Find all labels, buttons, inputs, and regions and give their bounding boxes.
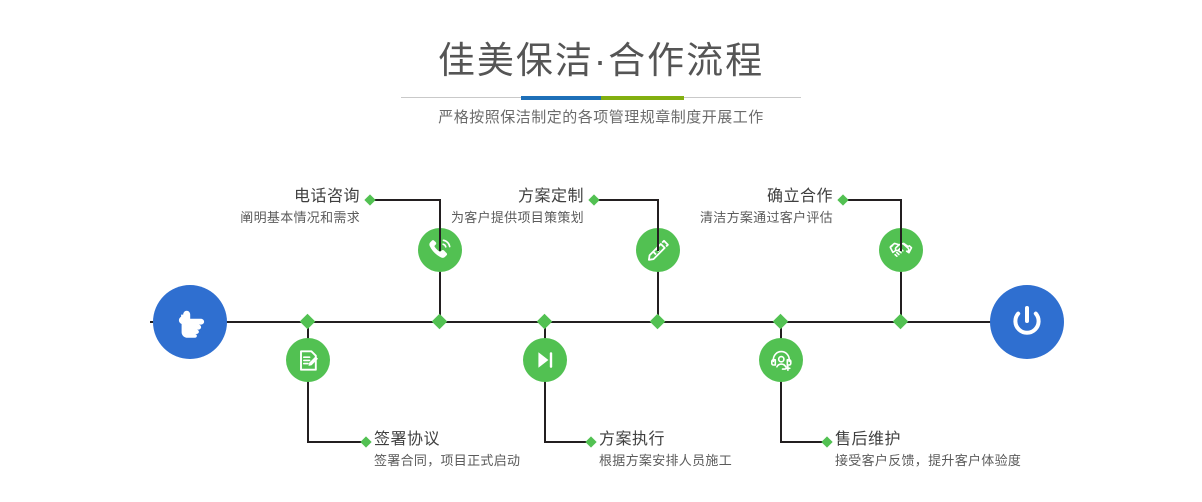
divider-accent-blue [521, 96, 601, 100]
node-elbow-horizontal [782, 441, 826, 443]
headset-support-icon [769, 348, 794, 373]
page-title: 佳美保洁·合作流程 [0, 38, 1202, 84]
axis-marker-diamond [893, 314, 909, 330]
step-desc: 阐明基本情况和需求 [240, 208, 360, 228]
node-elbow-vertical [780, 393, 782, 443]
play-skip-icon [533, 348, 557, 372]
step-label-6: 售后维护 接受客户反馈，提升客户体验度 [835, 429, 1021, 471]
divider-accent-green [601, 96, 684, 100]
label-tip-diamond [837, 194, 848, 205]
step-label-1: 电话咨询 阐明基本情况和需求 [240, 186, 360, 228]
node-elbow-vertical [544, 393, 546, 443]
label-tip-diamond [821, 436, 832, 447]
step-title: 签署协议 [374, 429, 520, 451]
step-title: 方案执行 [599, 429, 732, 451]
timeline-start-endpoint [153, 285, 227, 359]
node-elbow-horizontal [595, 199, 657, 201]
node-elbow-horizontal [546, 441, 590, 443]
page-header: 佳美保洁·合作流程 严格按照保洁制定的各项管理规章制度开展工作 [0, 0, 1202, 150]
timeline-end-endpoint [990, 285, 1064, 359]
pointing-hand-icon [170, 302, 210, 342]
step-desc: 根据方案安排人员施工 [599, 451, 732, 471]
step-title: 方案定制 [451, 186, 584, 208]
step-desc: 签署合同，项目正式启动 [374, 451, 520, 471]
step-icon-bubble[interactable] [286, 338, 330, 382]
label-tip-diamond [360, 436, 371, 447]
step-icon-bubble[interactable] [523, 338, 567, 382]
step-title: 电话咨询 [240, 186, 360, 208]
node-elbow-vertical [657, 199, 659, 251]
axis-marker-diamond [537, 314, 553, 330]
axis-marker-diamond [432, 314, 448, 330]
axis-marker-diamond [300, 314, 316, 330]
axis-marker-diamond [650, 314, 666, 330]
title-divider [401, 96, 801, 100]
node-elbow-horizontal [844, 199, 900, 201]
node-elbow-horizontal [371, 199, 439, 201]
step-icon-bubble[interactable] [759, 338, 803, 382]
step-label-3: 方案定制 为客户提供项目策策划 [451, 186, 584, 228]
step-label-4: 方案执行 根据方案安排人员施工 [599, 429, 732, 471]
step-title: 售后维护 [835, 429, 1021, 451]
node-elbow-vertical [307, 393, 309, 443]
label-tip-diamond [364, 194, 375, 205]
label-tip-diamond [585, 436, 596, 447]
node-elbow-vertical [439, 199, 441, 251]
timeline-axis [150, 321, 1052, 323]
step-label-5: 确立合作 清洁方案通过客户评估 [700, 186, 833, 228]
step-title: 确立合作 [700, 186, 833, 208]
document-edit-icon [296, 348, 321, 373]
page-subtitle: 严格按照保洁制定的各项管理规章制度开展工作 [0, 107, 1202, 129]
node-elbow-horizontal [309, 441, 365, 443]
process-timeline: 电话咨询 阐明基本情况和需求 签署协议 签署合同，项目正式启动 [0, 150, 1202, 502]
step-desc: 为客户提供项目策策划 [451, 208, 584, 228]
axis-marker-diamond [773, 314, 789, 330]
step-label-2: 签署协议 签署合同，项目正式启动 [374, 429, 520, 471]
power-icon [1006, 301, 1048, 343]
step-desc: 清洁方案通过客户评估 [700, 208, 833, 228]
node-elbow-vertical [900, 199, 902, 251]
step-desc: 接受客户反馈，提升客户体验度 [835, 451, 1021, 471]
label-tip-diamond [588, 194, 599, 205]
